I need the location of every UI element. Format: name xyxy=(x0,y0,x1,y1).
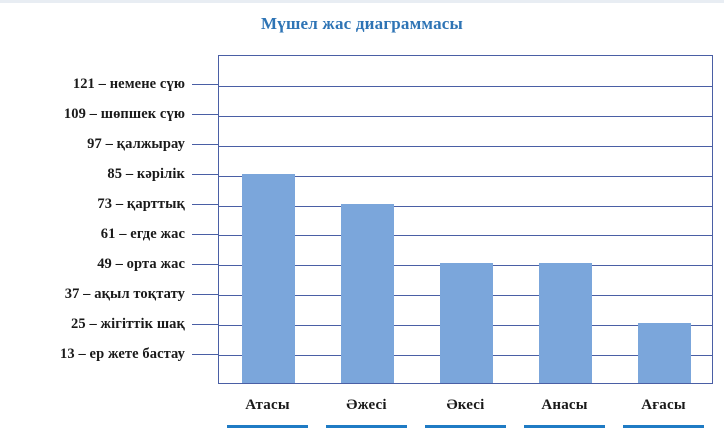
y-axis-tick: 61 – егде жас xyxy=(0,225,218,243)
y-axis-tick-label: 49 – орта жас xyxy=(97,256,185,273)
plot-area xyxy=(218,55,713,384)
gridline xyxy=(219,146,712,147)
x-axis-category-underline xyxy=(425,425,506,428)
x-axis-label-row: АтасыӘжесіӘкесіАнасыАғасы xyxy=(218,384,713,442)
x-axis-category: Әкесі xyxy=(416,384,515,428)
y-axis-tick-dash xyxy=(192,324,218,325)
y-axis-tick-dash xyxy=(192,204,218,205)
x-axis-category: Атасы xyxy=(218,384,317,428)
chart-title: Мүшел жас диаграммасы xyxy=(0,14,724,34)
y-axis-tick-dash xyxy=(192,144,218,145)
x-axis-category-label: Әкесі xyxy=(416,384,515,414)
y-axis-tick-label: 97 – қалжырау xyxy=(87,136,185,153)
y-axis-tick-label: 13 – ер жете бастау xyxy=(60,346,185,363)
y-axis-tick: 85 – кәрілік xyxy=(0,166,218,184)
y-axis-tick-label: 37 – ақыл тоқтату xyxy=(65,286,185,303)
y-axis-tick-label: 73 – қарттық xyxy=(97,196,185,213)
y-axis-tick-dash xyxy=(192,234,218,235)
y-axis-tick: 73 – қарттық xyxy=(0,196,218,214)
bar-Әкесі xyxy=(440,263,493,383)
gridline xyxy=(219,116,712,117)
y-axis-tick-label: 109 – шөпшек сүю xyxy=(64,106,185,123)
y-axis-tick-label: 61 – егде жас xyxy=(101,226,185,243)
x-axis-category-label: Ағасы xyxy=(614,384,713,414)
y-axis-tick-dash xyxy=(192,84,218,85)
y-axis-tick: 97 – қалжырау xyxy=(0,136,218,154)
y-axis-tick-label: 85 – кәрілік xyxy=(107,166,185,183)
x-axis-category: Ағасы xyxy=(614,384,713,428)
y-axis-tick: 13 – ер жете бастау xyxy=(0,345,218,363)
y-axis-tick-dash xyxy=(192,294,218,295)
x-axis-category: Әжесі xyxy=(317,384,416,428)
x-axis-category-underline xyxy=(326,425,407,428)
x-axis-category-underline xyxy=(524,425,605,428)
bar-chart: Мүшел жас диаграммасы 13 – ер жете баста… xyxy=(0,0,724,442)
y-axis-tick-dash xyxy=(192,114,218,115)
y-axis-tick-dash xyxy=(192,264,218,265)
x-axis-category-label: Атасы xyxy=(218,384,317,414)
y-axis-tick-label: 121 – немене сүю xyxy=(73,76,185,93)
x-axis-category: Анасы xyxy=(515,384,614,428)
y-axis-tick: 109 – шөпшек сүю xyxy=(0,106,218,124)
y-axis-tick: 25 – жігіттік шақ xyxy=(0,315,218,333)
bar-Әжесі xyxy=(341,204,394,383)
bar-Атасы xyxy=(242,174,295,383)
gridline xyxy=(219,86,712,87)
y-axis-tick-dash xyxy=(192,354,218,355)
y-axis-tick: 49 – орта жас xyxy=(0,255,218,273)
y-axis-label-column: 13 – ер жете бастау25 – жігіттік шақ37 –… xyxy=(0,55,218,384)
x-axis-category-underline xyxy=(623,425,704,428)
y-axis-tick-label: 25 – жігіттік шақ xyxy=(71,316,185,333)
y-axis-tick: 121 – немене сүю xyxy=(0,76,218,94)
y-axis-tick-dash xyxy=(192,174,218,175)
bar-Ағасы xyxy=(638,323,691,383)
x-axis-category-label: Әжесі xyxy=(317,384,416,414)
x-axis-category-underline xyxy=(227,425,308,428)
x-axis-category-label: Анасы xyxy=(515,384,614,414)
bar-Анасы xyxy=(539,263,592,383)
y-axis-tick: 37 – ақыл тоқтату xyxy=(0,285,218,303)
